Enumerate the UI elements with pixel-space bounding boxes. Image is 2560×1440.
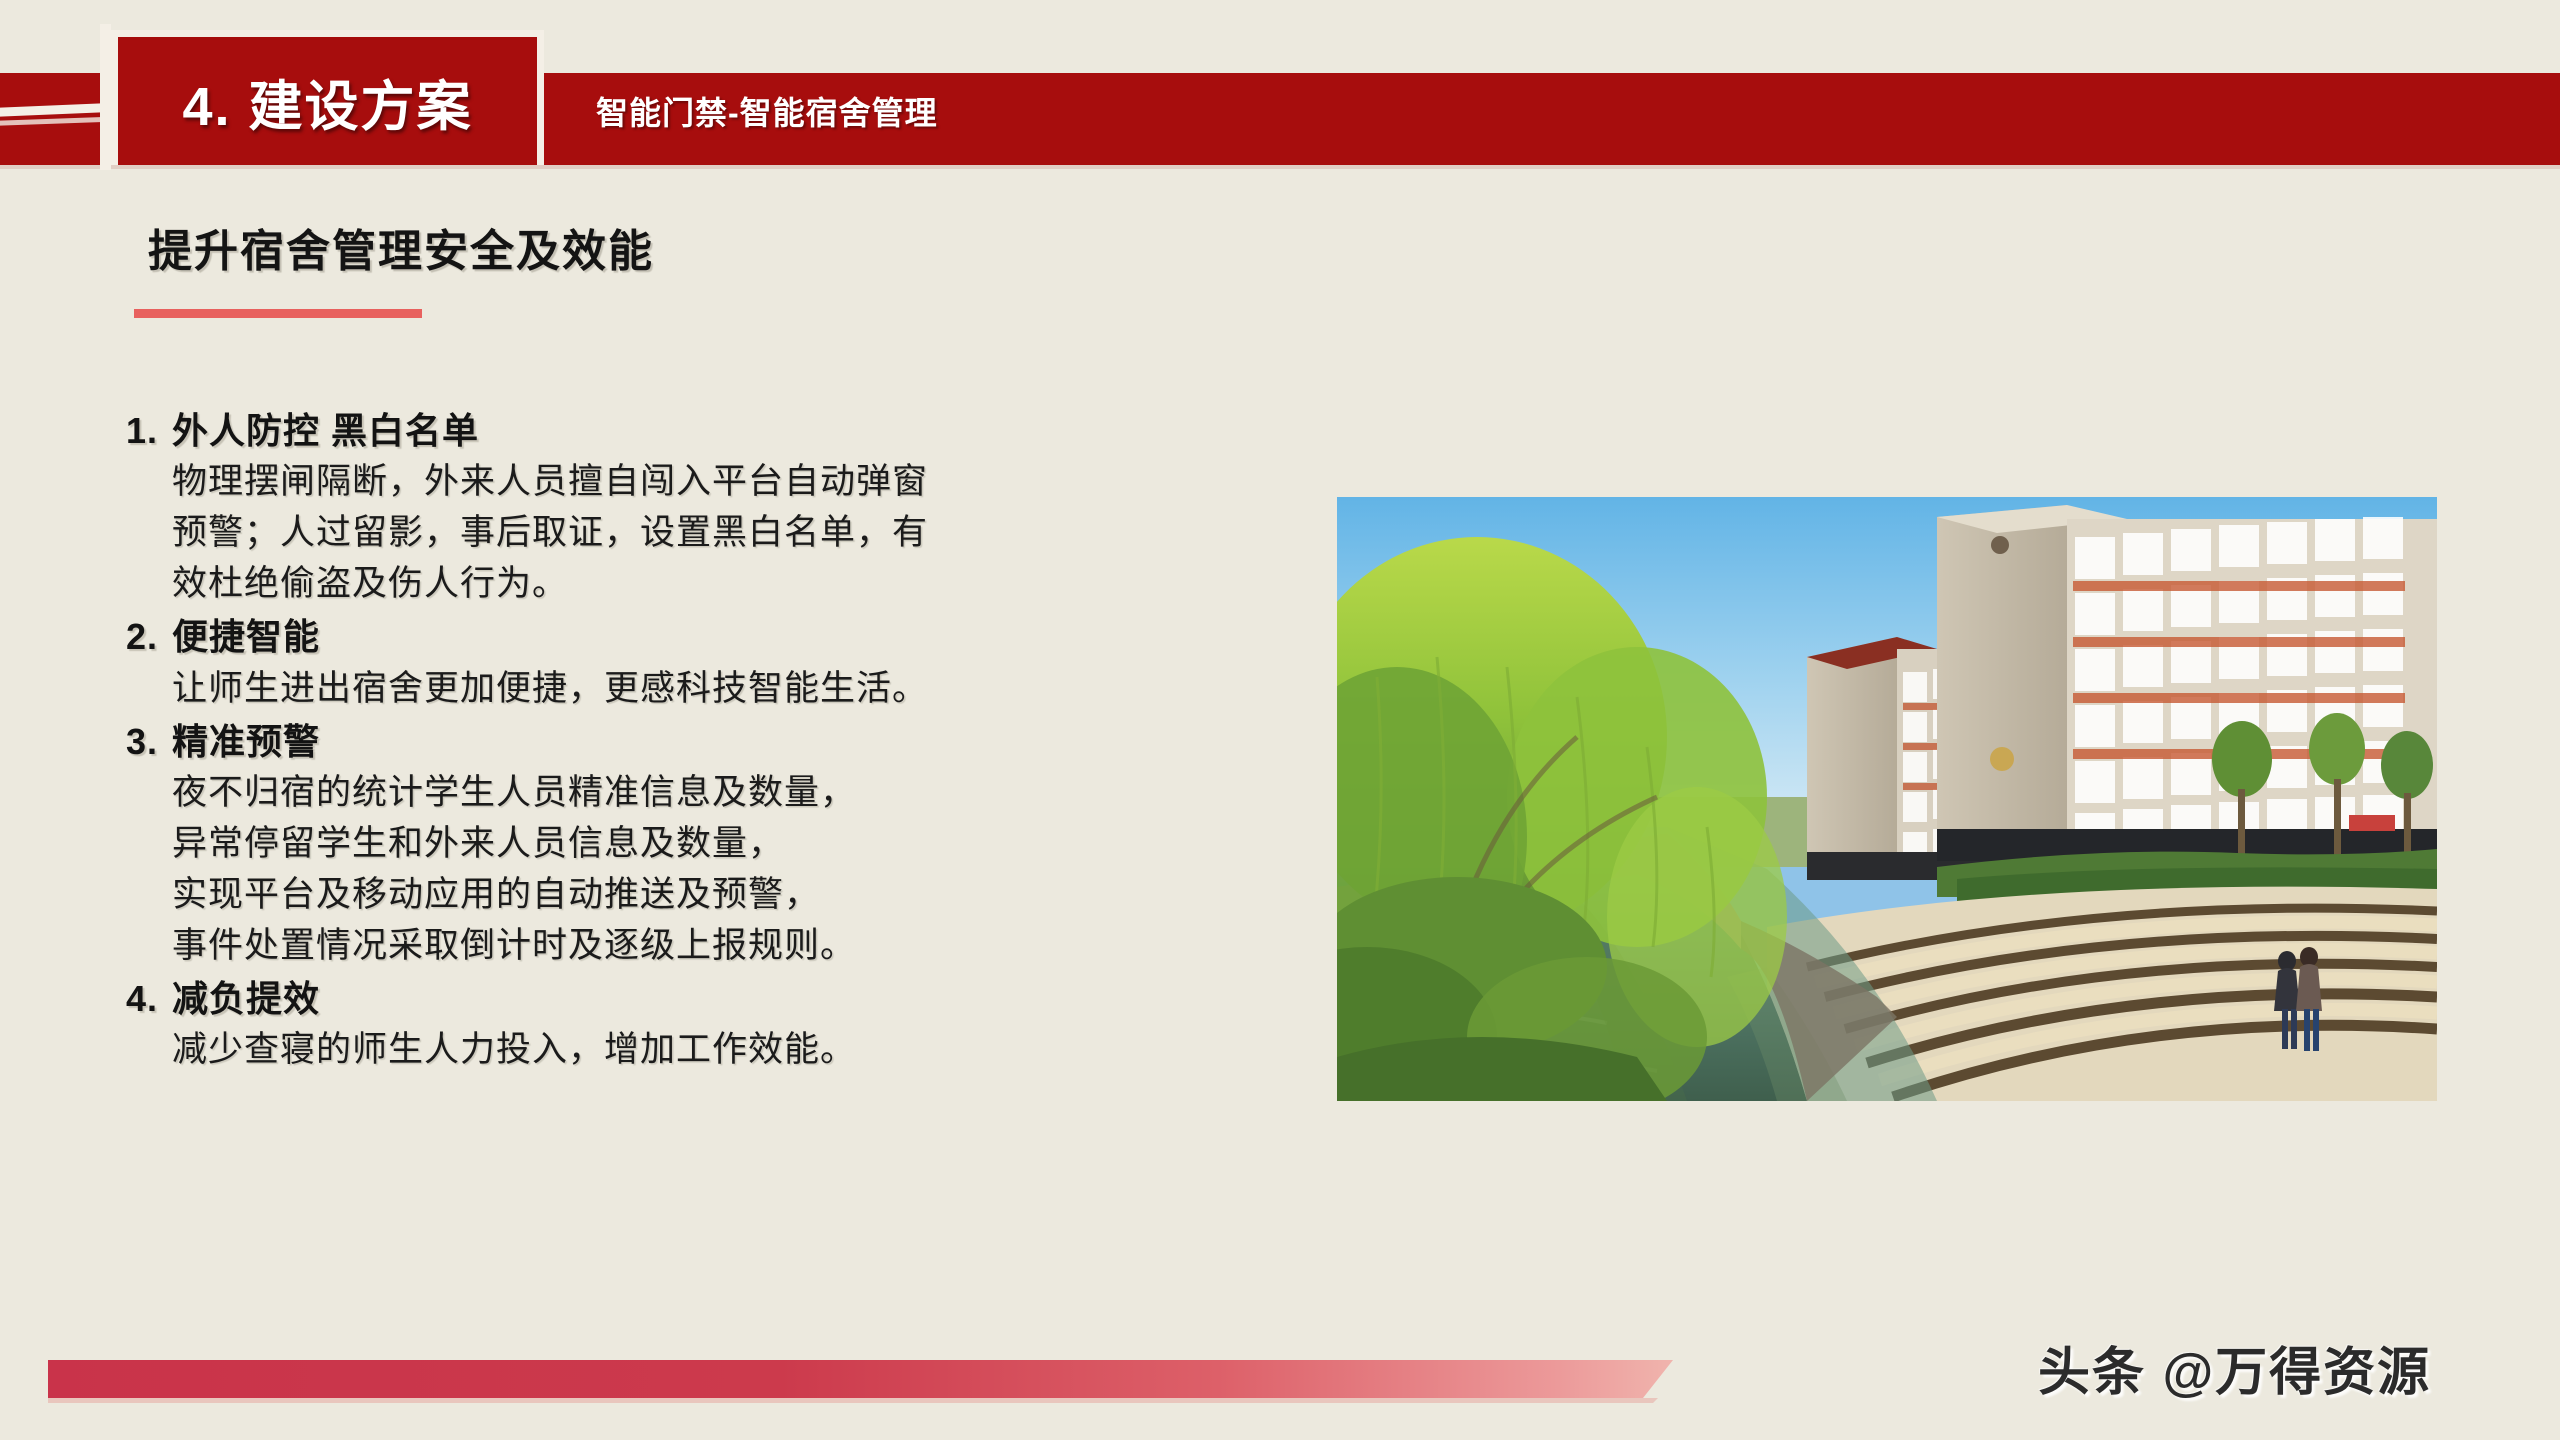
list-item-header: 2.便捷智能 (126, 611, 1306, 662)
list-item-body-line: 预警；人过留影，事后取证，设置黑白名单，有 (172, 507, 1306, 558)
list-item-header: 1.外人防控 黑白名单 (126, 405, 1306, 456)
list-item: 2.便捷智能让师生进出宿舍更加便捷，更感科技智能生活。 (126, 611, 1306, 713)
list-item-number: 1. (126, 405, 172, 456)
list-item-header: 3.精准预警 (126, 716, 1306, 767)
watermark-text: 头条 @万得资源 (2038, 1330, 2431, 1405)
list-item-body-line: 效杜绝偷盗及伤人行为。 (172, 558, 1306, 609)
list-item-body-line: 夜不归宿的统计学生人员精准信息及数量， (172, 767, 1306, 818)
list-item-number: 4. (126, 973, 172, 1024)
list-item-body-line: 减少查寝的师生人力投入，增加工作效能。 (172, 1024, 1306, 1075)
footer-accent-bar (48, 1360, 1673, 1398)
list-item-title: 便捷智能 (172, 611, 320, 662)
list-item-body-line: 实现平台及移动应用的自动推送及预警， (172, 869, 1306, 920)
list-item-body-line: 事件处置情况采取倒计时及逐级上报规则。 (172, 920, 1306, 971)
header-band-shadow (0, 165, 2560, 169)
list-item-number: 2. (126, 611, 172, 662)
list-item-title: 减负提效 (172, 973, 320, 1024)
footer-accent-bar-shadow (48, 1398, 1658, 1403)
page-title: 4. 建设方案 (182, 62, 472, 141)
list-item-body-line: 物理摆闸隔断，外来人员擅自闯入平台自动弹窗 (172, 456, 1306, 507)
list-item-title: 外人防控 黑白名单 (172, 405, 479, 456)
benefits-list: 1.外人防控 黑白名单物理摆闸隔断，外来人员擅自闯入平台自动弹窗预警；人过留影，… (126, 405, 1306, 1077)
list-item: 1.外人防控 黑白名单物理摆闸隔断，外来人员擅自闯入平台自动弹窗预警；人过留影，… (126, 405, 1306, 609)
section-heading-group: 提升宿舍管理安全及效能 (148, 215, 654, 318)
photo-illustration (1337, 497, 2437, 1101)
list-item-number: 3. (126, 716, 172, 767)
header-title-box: 4. 建设方案 (111, 30, 544, 165)
slide-header: 4. 建设方案 智能门禁-智能宿舍管理 (0, 0, 2560, 170)
section-heading-underline (134, 309, 422, 318)
header-subtitle: 智能门禁-智能宿舍管理 (596, 88, 938, 134)
list-item: 3.精准预警夜不归宿的统计学生人员精准信息及数量，异常停留学生和外来人员信息及数… (126, 716, 1306, 971)
campus-dormitory-photo (1337, 497, 2437, 1101)
list-item-body-line: 让师生进出宿舍更加便捷，更感科技智能生活。 (172, 663, 1306, 714)
list-item-title: 精准预警 (172, 716, 320, 767)
building-main (1937, 505, 2437, 861)
list-item-header: 4.减负提效 (126, 973, 1306, 1024)
header-vertical-divider (100, 24, 111, 170)
section-heading-text: 提升宿舍管理安全及效能 (148, 215, 654, 279)
list-item-body-line: 异常停留学生和外来人员信息及数量， (172, 818, 1306, 869)
list-item: 4.减负提效减少查寝的师生人力投入，增加工作效能。 (126, 973, 1306, 1075)
